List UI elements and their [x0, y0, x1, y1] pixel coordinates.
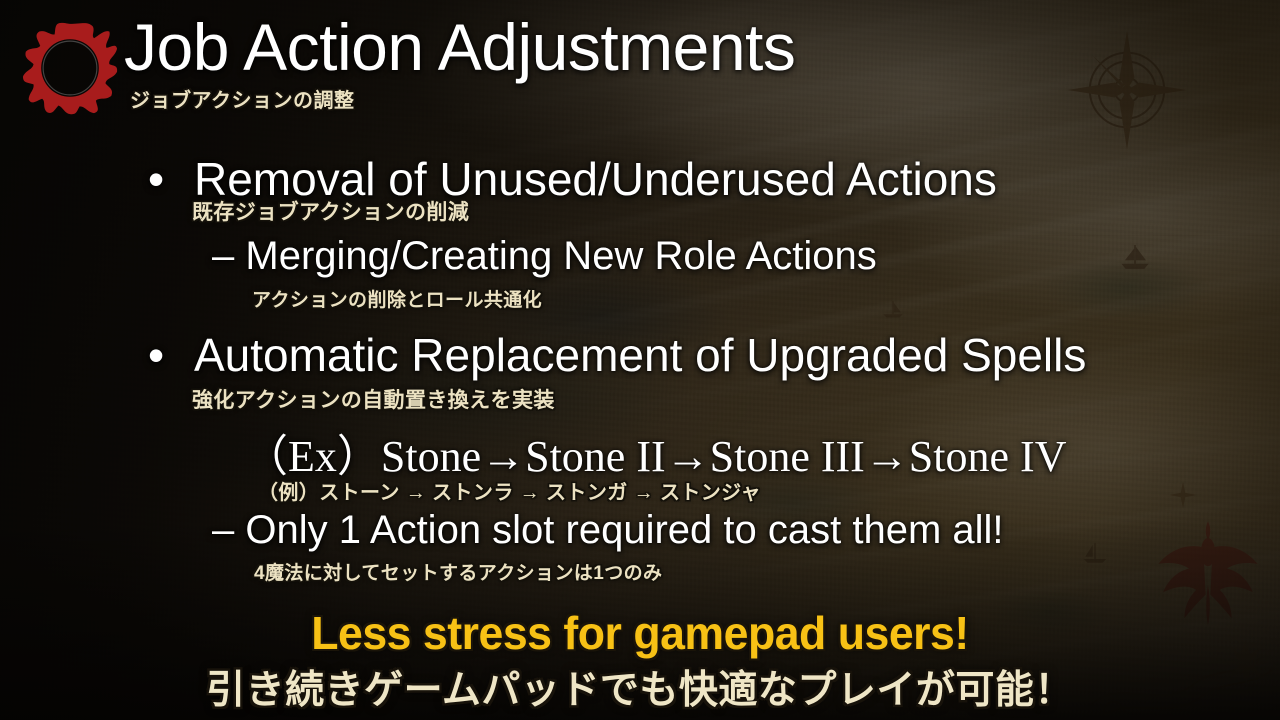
footer-highlight: Less stress for gamepad users!: [19, 606, 1261, 660]
bullet-2-sub-text: Only 1 Action slot required to cast them…: [245, 508, 1003, 552]
slide-header: Job Action Adjustments ジョブアクションの調整: [22, 14, 795, 116]
page-title: Job Action Adjustments: [124, 14, 795, 80]
example-spell-chain: （Ex）Stone→Stone II→Stone III→Stone IV: [244, 420, 1066, 484]
sub-bullet-marker-1: –: [212, 234, 234, 278]
bullet-1-japanese: 既存ジョブアクションの削減: [192, 196, 469, 226]
bullet-2: •Automatic Replacement of Upgraded Spell…: [148, 328, 1086, 382]
example-spell-chain-japanese: （例）ストーン → ストンラ → ストンガ → ストンジャ: [258, 476, 761, 505]
bullet-2-sub-japanese: 4魔法に対してセットするアクションは1つのみ: [254, 558, 662, 585]
sub-bullet-marker-2: –: [212, 508, 234, 552]
bullet-2-sub: – Only 1 Action slot required to cast th…: [212, 508, 1004, 553]
page-title-japanese: ジョブアクションの調整: [130, 84, 795, 113]
bullet-marker-2: •: [148, 328, 194, 382]
presentation-slide: Job Action Adjustments ジョブアクションの調整 •Remo…: [0, 0, 1280, 720]
bullet-2-text: Automatic Replacement of Upgraded Spells: [194, 329, 1086, 381]
slide-content: Job Action Adjustments ジョブアクションの調整 •Remo…: [0, 0, 1280, 720]
footer-highlight-japanese: 引き続きゲームパッドでも快適なプレイが可能！: [0, 659, 1280, 715]
ffxiv-meteor-logo-icon: [22, 20, 118, 116]
bullet-1-sub: – Merging/Creating New Role Actions: [212, 234, 877, 279]
bullet-1-sub-text: Merging/Creating New Role Actions: [245, 234, 876, 278]
bullet-2-japanese: 強化アクションの自動置き換えを実装: [192, 384, 555, 414]
bullet-1-sub-japanese: アクションの削除とロール共通化: [252, 285, 542, 312]
bullet-marker-1: •: [148, 152, 194, 206]
